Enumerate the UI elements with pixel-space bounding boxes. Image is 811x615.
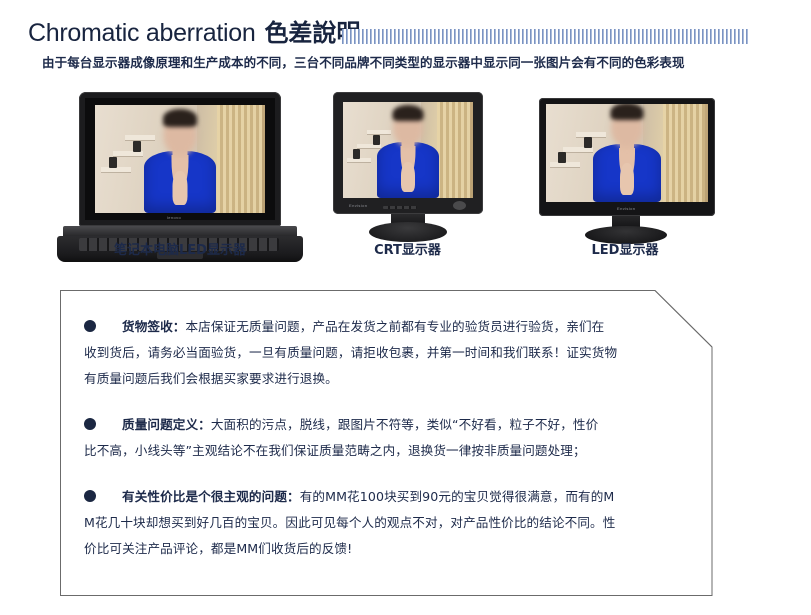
monitor-caption-crt: CRT显示器: [325, 239, 490, 258]
laptop-screen-photo: [95, 105, 265, 213]
paragraph-3-line-2: M花几十块却想买到好几百的宝贝。因此可见每个人的观点不对，对产品性价比的结论不同…: [84, 510, 728, 536]
paragraph-2-line-1: 大面积的污点，脱线，跟图片不符等，类似“不好看，粒子不好，性价: [211, 417, 598, 432]
laptop-brand-logo: lenovo: [167, 215, 181, 220]
notice-paragraph-1: 货物签收：本店保证无质量问题，产品在发货之前都有专业的验货员进行验货，亲们在 收…: [84, 314, 728, 392]
crt-brand-logo: Envision: [349, 203, 367, 208]
monitor-laptop: lenovo 笔记本电脑LED显示器: [55, 84, 305, 264]
page-title: Chromatic aberration 色差說明: [28, 18, 360, 48]
page-header: Chromatic aberration 色差說明 由于每台显示器成像原理和生产…: [0, 0, 811, 78]
monitor-led: Envision LED显示器: [525, 84, 725, 264]
paragraph-1-line-3: 有质量问题后我们会根据买家要求进行退换。: [84, 366, 728, 392]
bullet-icon: [84, 320, 96, 332]
crt-screen-photo: [343, 102, 473, 198]
chromatic-aberration-page: Chromatic aberration 色差說明 由于每台显示器成像原理和生产…: [0, 0, 811, 615]
title-english: Chromatic aberration: [28, 18, 255, 48]
monitor-crt: Envision CRT显示器: [325, 84, 490, 264]
monitor-comparison-row: lenovo 笔记本电脑LED显示器: [0, 84, 811, 264]
paragraph-1-heading: 货物签收：: [122, 319, 185, 334]
stripe-decoration: [342, 29, 748, 44]
paragraph-2-heading: 质量问题定义：: [122, 417, 211, 432]
paragraph-2-line-2: 比不高，小线头等”主观结论不在我们保证质量范畴之内，退换货一律按非质量问题处理；: [84, 438, 728, 464]
paragraph-1-line-2: 收到货后，请务必当面验货，一旦有质量问题，请拒收包裹，并第一时间和我们联系！证实…: [84, 340, 728, 366]
page-subtitle: 由于每台显示器成像原理和生产成本的不同，三台不同品牌不同类型的显示器中显示同一张…: [42, 52, 685, 71]
crt-buttons[interactable]: [383, 206, 417, 209]
paragraph-3-line-1: 有的MM花100块买到90元的宝贝觉得很满意，而有的M: [300, 489, 615, 504]
led-screen-photo: [546, 104, 708, 202]
bullet-icon: [84, 490, 96, 502]
notice-box: 货物签收：本店保证无质量问题，产品在发货之前都有专业的验货员进行验货，亲们在 收…: [60, 290, 758, 596]
crt-power-led: [453, 201, 466, 210]
bullet-icon: [84, 418, 96, 430]
paragraph-1-line-1: 本店保证无质量问题，产品在发货之前都有专业的验货员进行验货，亲们在: [185, 319, 604, 334]
led-brand-logo: Envision: [617, 206, 635, 211]
notice-content: 货物签收：本店保证无质量问题，产品在发货之前都有专业的验货员进行验货，亲们在 收…: [60, 290, 758, 596]
paragraph-3-heading: 有关性价比是个很主观的问题：: [122, 489, 300, 504]
paragraph-3-line-3: 价比可关注产品评论，都是MM们收货后的反馈!: [84, 536, 728, 562]
monitor-caption-led: LED显示器: [525, 239, 725, 258]
notice-paragraph-2: 质量问题定义：大面积的污点，脱线，跟图片不符等，类似“不好看，粒子不好，性价 比…: [84, 412, 728, 464]
monitor-caption-laptop: 笔记本电脑LED显示器: [55, 239, 305, 258]
notice-paragraph-3: 有关性价比是个很主观的问题：有的MM花100块买到90元的宝贝觉得很满意，而有的…: [84, 484, 728, 562]
